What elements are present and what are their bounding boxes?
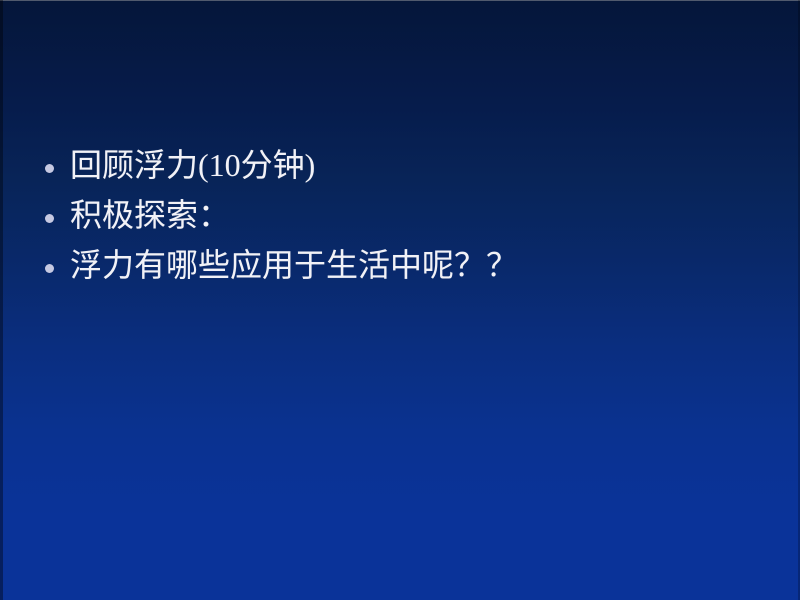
bullet-item-label: 回顾浮力(10分钟) [70,144,800,186]
bullet-item-label: 浮力有哪些应用于生活中呢？？ [70,244,800,286]
bullet-list-item: 回顾浮力(10分钟) [0,144,800,194]
bullet-dot-icon [40,244,70,286]
bullet-list-item: 积极探索： [0,194,800,244]
slide-body-text: 回顾浮力(10分钟) 积极探索： 浮力有哪些应用于生活中呢？？ [0,144,800,294]
slide-left-edge [0,0,3,600]
bullet-dot-icon [40,194,70,236]
bullet-list-item: 浮力有哪些应用于生活中呢？？ [0,244,800,294]
slide-top-border [0,0,800,1]
bullet-dot-icon [40,144,70,186]
bullet-item-label: 积极探索： [70,194,800,236]
slide-canvas: 回顾浮力(10分钟) 积极探索： 浮力有哪些应用于生活中呢？？ [0,0,800,600]
